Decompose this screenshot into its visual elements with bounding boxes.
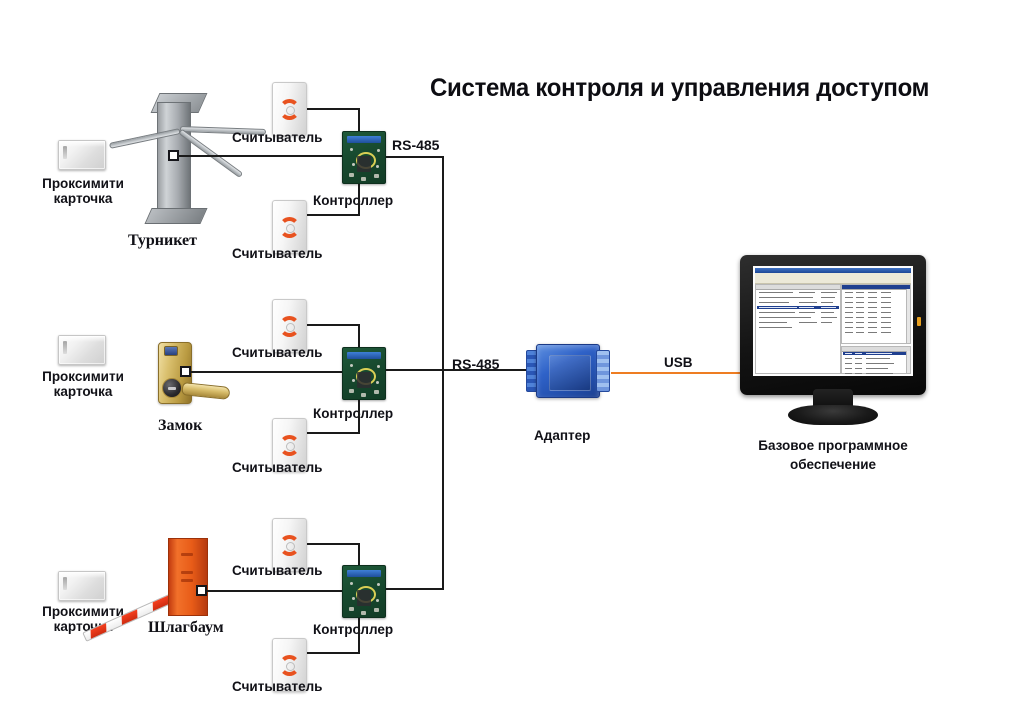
reader-icon (279, 217, 300, 238)
controller-connector (347, 352, 381, 359)
reader-icon (279, 316, 300, 337)
wire-reader-bottom-v-lock (358, 400, 360, 433)
workstation-monitor (740, 255, 926, 423)
turnstile-base (144, 208, 207, 224)
wire-reader-top-h-lock (307, 324, 360, 326)
bus-label-rs485-top: RS-485 (392, 138, 439, 153)
reader-label-lock-bottom: Считыватель (232, 460, 322, 475)
wire-reader-bottom-h-barrier (307, 652, 360, 654)
proximity-card-label-line2: карточка (54, 191, 113, 206)
controller-connector (347, 570, 381, 577)
reader-label-barrier-top: Считыватель (232, 563, 322, 578)
adapter-device (524, 340, 612, 402)
wire-reader-bottom-h-turnstile (307, 214, 360, 216)
monitor-screen (753, 266, 913, 376)
proximity-card-label-line1: Проксимити (42, 369, 124, 384)
controller-barrier (342, 565, 386, 618)
controller-turnstile (342, 131, 386, 184)
app-right-grid-top (841, 284, 911, 344)
workstation-label: Базовое программное обеспечение (718, 436, 948, 474)
wire-turnstile-to-controller (178, 155, 350, 157)
wire-controller-turnstile-to-bus (386, 156, 444, 158)
wire-reader-top-h-barrier (307, 543, 360, 545)
reader-icon (279, 655, 300, 676)
controller-label-barrier: Контроллер (313, 622, 393, 637)
reader-label-barrier-bottom: Считыватель (232, 679, 322, 694)
wire-controller-lock-to-bus (386, 369, 444, 371)
barrier-label: Шлагбаум (148, 620, 224, 635)
workstation-label-line2: обеспечение (790, 457, 876, 472)
controller-chip (357, 156, 371, 172)
wire-controller-barrier-to-bus (386, 588, 444, 590)
reader-label-turnstile-top: Считыватель (232, 130, 322, 145)
reader-turnstile-top (272, 82, 307, 136)
usb-label: USB (664, 355, 693, 370)
adapter-body (536, 344, 600, 398)
adapter-label: Адаптер (534, 428, 590, 443)
wire-reader-bottom-v-turnstile (358, 184, 360, 215)
turnstile-device (133, 88, 243, 233)
reader-icon (279, 435, 300, 456)
workstation-label-line1: Базовое программное (758, 438, 908, 453)
wire-reader-bottom-v-barrier (358, 618, 360, 653)
proximity-card-label-lock: Проксимити карточка (18, 369, 148, 399)
app-left-table (755, 284, 841, 374)
monitor-bezel (740, 255, 926, 395)
controller-connector (347, 136, 381, 143)
diagram-canvas: Система контроля и управления доступом П… (0, 0, 1024, 704)
controller-chip (357, 372, 371, 388)
reader-label-turnstile-bottom: Считыватель (232, 246, 322, 261)
barrier-device (90, 510, 230, 620)
controller-label-lock: Контроллер (313, 406, 393, 421)
wire-reader-top-h-turnstile (307, 108, 360, 110)
lock-sensor (164, 346, 178, 356)
rs485-bus-trunk (442, 156, 444, 590)
acs-software-window (753, 266, 913, 376)
app-right-grid-bottom (841, 346, 911, 374)
controller-lock (342, 347, 386, 400)
wire-reader-bottom-h-lock (307, 432, 360, 434)
reader-icon (279, 99, 300, 120)
proximity-card-turnstile (58, 140, 106, 170)
page-title: Система контроля и управления доступом (430, 74, 929, 103)
turnstile-label: Турникет (128, 233, 197, 248)
monitor-power-led (917, 317, 921, 326)
lock-cylinder (162, 378, 182, 398)
app-toolbar (755, 277, 911, 284)
rs485-adapter-label: RS-485 (452, 357, 499, 372)
reader-label-lock-top: Считыватель (232, 345, 322, 360)
barrier-post (168, 538, 208, 616)
proximity-card-label-line2: карточка (54, 384, 113, 399)
proximity-card-label-line1: Проксимити (42, 176, 124, 191)
reader-icon (279, 535, 300, 556)
controller-label-turnstile: Контроллер (313, 193, 393, 208)
proximity-card-lock (58, 335, 106, 365)
controller-chip (357, 590, 371, 606)
proximity-card-label-turnstile: Проксимити карточка (18, 176, 148, 206)
lock-device (152, 340, 238, 416)
wire-lock-to-controller (190, 371, 350, 373)
lock-label: Замок (158, 418, 202, 433)
monitor-base (788, 405, 878, 425)
adapter-usb-port (596, 350, 610, 392)
wire-barrier-to-controller (206, 590, 350, 592)
